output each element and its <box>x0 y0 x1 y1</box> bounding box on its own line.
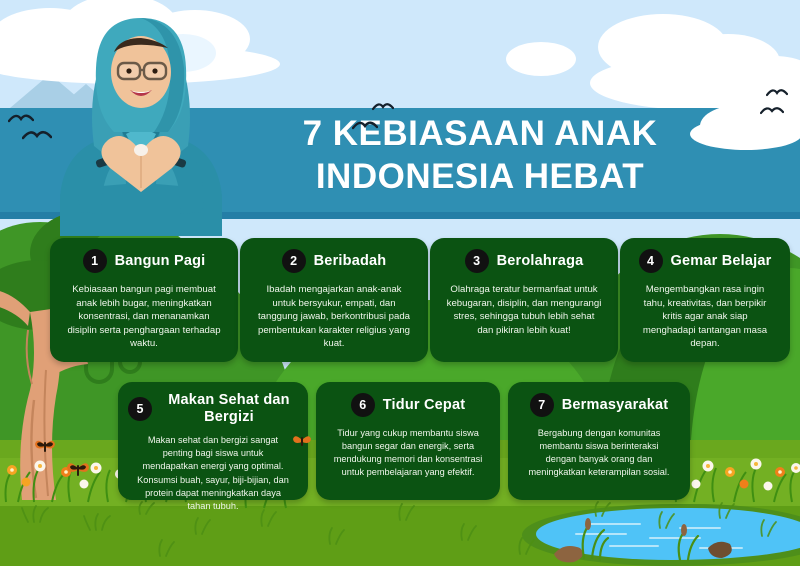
card-header: 4 Gemar Belajar <box>630 248 780 274</box>
title-line-1: 7 KEBIASAAN ANAK <box>200 112 760 155</box>
card-number-badge: 6 <box>351 393 375 417</box>
card-description: Mengembangkan rasa ingin tahu, kreativit… <box>630 283 780 351</box>
card-number-badge: 3 <box>465 249 489 273</box>
card-header: 5 Makan Sehat dan Bergizi <box>128 392 298 425</box>
page-title: 7 KEBIASAAN ANAK INDONESIA HEBAT <box>200 112 760 199</box>
cloud-shape <box>506 42 576 76</box>
card-description: Tidur yang cukup membantu siswa bangun s… <box>326 427 490 479</box>
bird-icon <box>760 104 784 116</box>
card-header: 3 Berolahraga <box>440 248 608 274</box>
habit-card[interactable]: 3 Berolahraga Olahraga teratur bermanfaa… <box>430 238 618 362</box>
card-number-badge: 7 <box>530 393 554 417</box>
title-line-2: INDONESIA HEBAT <box>200 155 760 198</box>
habit-card[interactable]: 6 Tidur Cepat Tidur yang cukup membantu … <box>316 382 500 500</box>
card-title: Beribadah <box>314 253 387 270</box>
card-title: Bangun Pagi <box>115 253 206 270</box>
habit-card[interactable]: 2 Beribadah Ibadah mengajarkan anak-anak… <box>240 238 428 362</box>
infographic-poster: 7 KEBIASAAN ANAK INDONESIA HEBAT <box>0 0 800 566</box>
card-description: Ibadah mengajarkan anak-anak untuk bersy… <box>250 283 418 351</box>
foreground-grass <box>0 500 800 566</box>
habit-card[interactable]: 5 Makan Sehat dan Bergizi Makan sehat da… <box>118 382 308 500</box>
card-number-badge: 2 <box>282 249 306 273</box>
card-description: Kebiasaan bangun pagi membuat anak lebih… <box>60 283 228 351</box>
card-title: Berolahraga <box>497 253 584 270</box>
card-header: 2 Beribadah <box>250 248 418 274</box>
card-header: 7 Bermasyarakat <box>518 392 680 418</box>
card-description: Makan sehat dan bergizi sangat penting b… <box>128 434 298 512</box>
card-title: Gemar Belajar <box>671 253 772 270</box>
card-title: Bermasyarakat <box>562 397 669 414</box>
butterfly-icon <box>34 436 56 459</box>
bird-icon <box>352 118 378 131</box>
bird-icon <box>766 86 788 98</box>
habit-card[interactable]: 4 Gemar Belajar Mengembangkan rasa ingin… <box>620 238 790 362</box>
card-number-badge: 5 <box>128 397 152 421</box>
card-description: Bergabung dengan komunitas membantu sisw… <box>518 427 680 479</box>
card-header: 1 Bangun Pagi <box>60 248 228 274</box>
butterfly-icon <box>66 458 90 483</box>
habit-card[interactable]: 7 Bermasyarakat Bergabung dengan komunit… <box>508 382 690 500</box>
bird-icon <box>372 100 394 112</box>
butterfly-icon <box>292 432 312 453</box>
card-title: Tidur Cepat <box>383 397 466 414</box>
card-description: Olahraga teratur bermanfaat untuk kebuga… <box>440 283 608 337</box>
card-number-badge: 4 <box>639 249 663 273</box>
habit-card[interactable]: 1 Bangun Pagi Kebiasaan bangun pagi memb… <box>50 238 238 362</box>
card-title: Makan Sehat dan Bergizi <box>160 392 298 425</box>
card-header: 6 Tidur Cepat <box>326 392 490 418</box>
card-number-badge: 1 <box>83 249 107 273</box>
presenter-photo <box>18 6 248 241</box>
